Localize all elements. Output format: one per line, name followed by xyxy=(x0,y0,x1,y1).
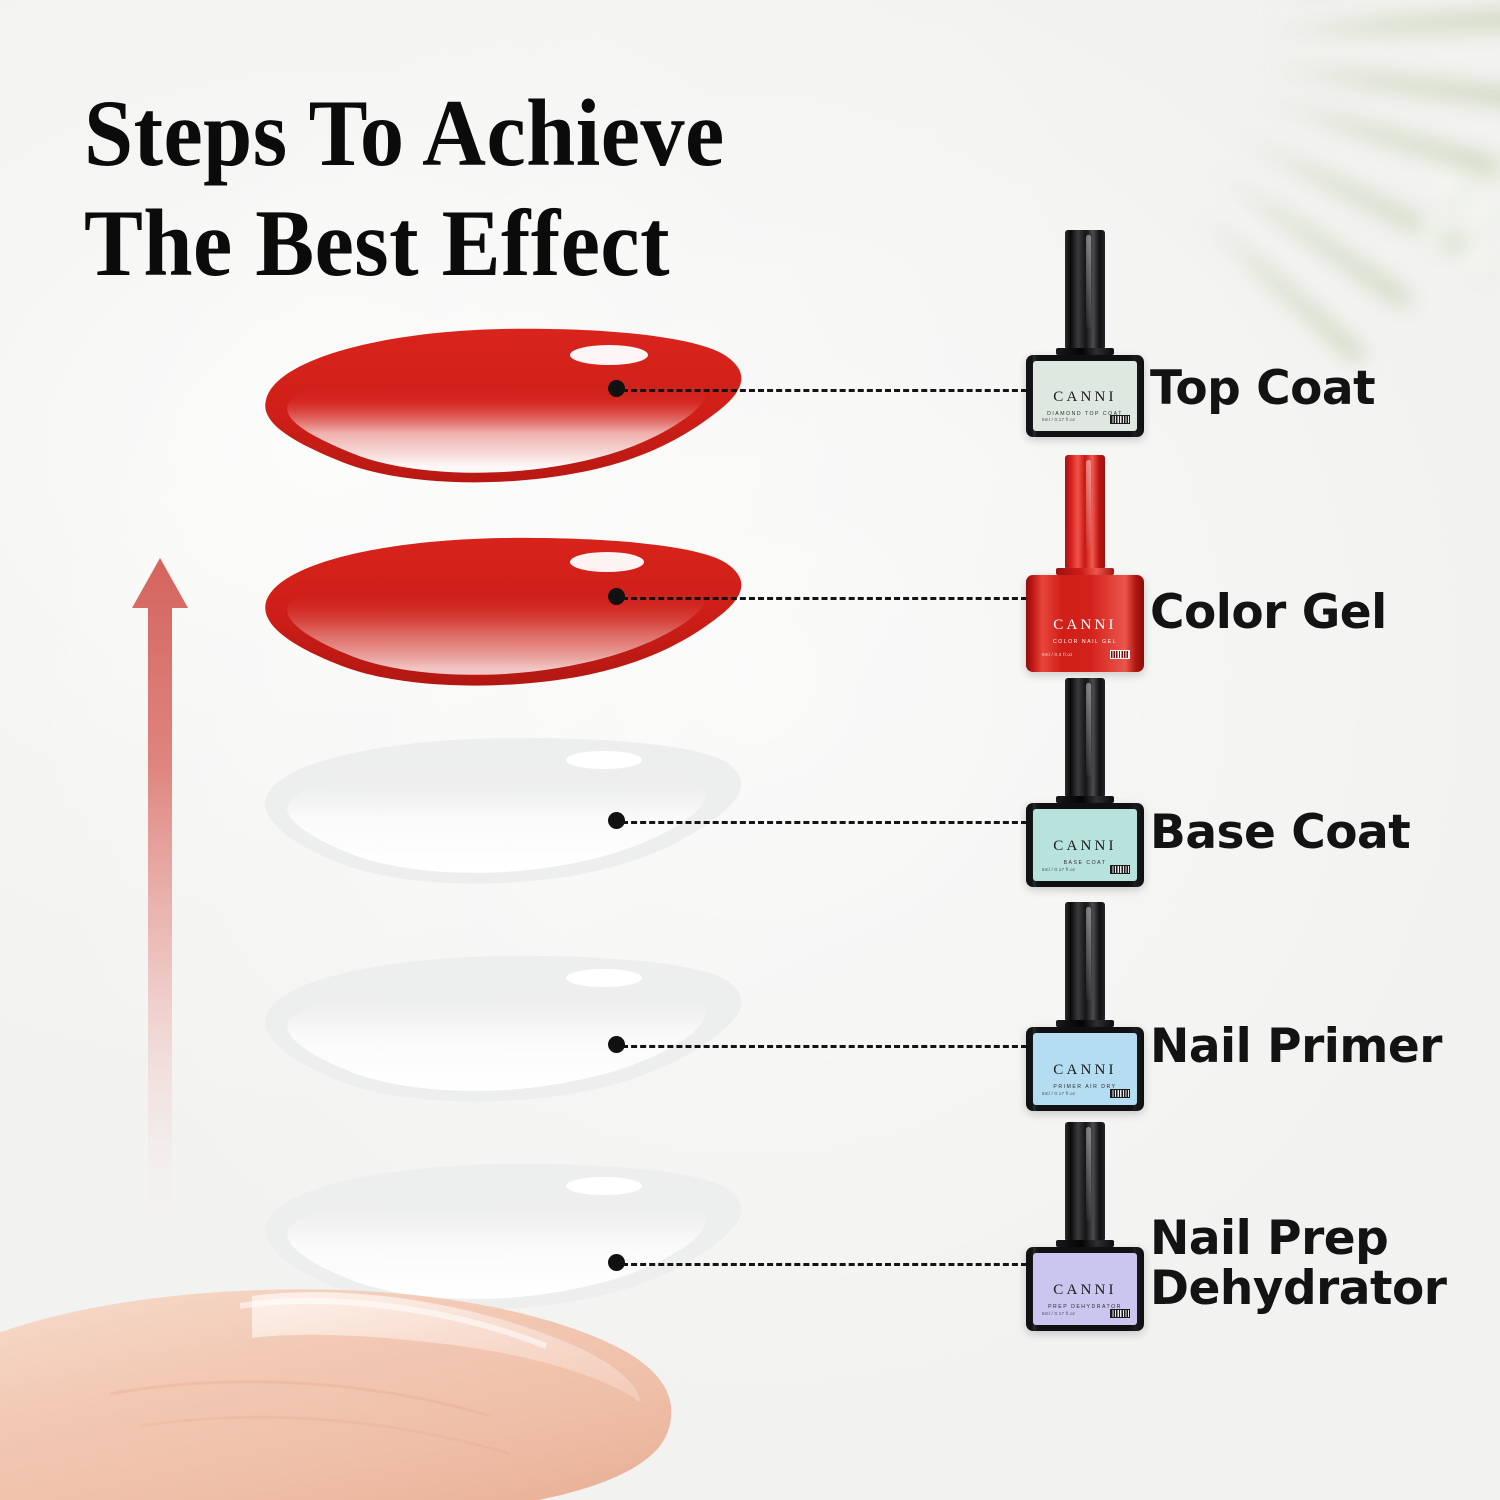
leader-line-nail-primer xyxy=(622,1045,1027,1048)
bottle-cap-icon xyxy=(1065,678,1105,796)
bottle-cap-icon xyxy=(1065,902,1105,1020)
infographic-canvas: Steps To Achieve The Best Effect xyxy=(0,0,1500,1500)
bottle-label-footer: 5ml / 0.17 fl.oz xyxy=(1042,415,1130,424)
bottle-label-footer: 5ml / 0.17 fl.oz xyxy=(1042,1089,1130,1098)
step-label-top-coat: Top Coat xyxy=(1150,364,1375,414)
barcode-icon xyxy=(1110,415,1130,424)
bottle-label-footer: 5ml / 0.17 fl.oz xyxy=(1042,865,1130,874)
bottle-body: CANNI PRIMER AIR DRY 5ml / 0.17 fl.oz xyxy=(1026,1027,1144,1111)
bottle-body: CANNI DIAMOND TOP COAT 5ml / 0.17 fl.oz xyxy=(1026,355,1144,437)
bottle-cap-icon xyxy=(1065,455,1105,568)
bottle-cap-icon xyxy=(1065,230,1105,348)
barcode-icon xyxy=(1110,650,1130,659)
bottle-label: CANNI DIAMOND TOP COAT 5ml / 0.17 fl.oz xyxy=(1033,361,1137,431)
step-label-color-gel: Color Gel xyxy=(1150,588,1387,638)
bottle-label-footer: 9ml / 0.3 fl.oz xyxy=(1042,650,1130,659)
bottle-cap-collar xyxy=(1056,568,1114,575)
bottle-color-gel[interactable]: CANNI COLOR NAIL GEL 9ml / 0.3 fl.oz xyxy=(1024,455,1146,672)
leader-line-color-gel xyxy=(622,597,1027,600)
page-title: Steps To Achieve The Best Effect xyxy=(84,78,902,298)
bottle-label: CANNI BASE COAT 5ml / 0.17 fl.oz xyxy=(1033,809,1137,881)
bottle-cap-collar xyxy=(1056,348,1114,355)
bottle-brand: CANNI xyxy=(1053,1282,1117,1299)
step-label-nail-prep-dehydrator: Nail Prep Dehydrator xyxy=(1150,1214,1446,1314)
barcode-icon xyxy=(1110,865,1130,874)
bottle-cap-collar xyxy=(1056,796,1114,803)
bottle-label-footer: 5ml / 0.17 fl.oz xyxy=(1042,1309,1130,1318)
bottle-brand: CANNI xyxy=(1053,617,1117,634)
bottle-body: CANNI PREP DEHYDRATOR 5ml / 0.17 fl.oz xyxy=(1026,1247,1144,1331)
barcode-icon xyxy=(1110,1309,1130,1318)
bottle-body: CANNI BASE COAT 5ml / 0.17 fl.oz xyxy=(1026,803,1144,887)
bottle-cap-collar xyxy=(1056,1020,1114,1027)
bottle-base-coat[interactable]: CANNI BASE COAT 5ml / 0.17 fl.oz xyxy=(1024,678,1146,887)
bottle-brand: CANNI xyxy=(1053,1062,1117,1079)
bottle-label: CANNI COLOR NAIL GEL 9ml / 0.3 fl.oz xyxy=(1033,581,1137,666)
bottle-cap-icon xyxy=(1065,1122,1105,1240)
bottle-brand: CANNI xyxy=(1053,838,1117,855)
bottle-volume: 5ml / 0.17 fl.oz xyxy=(1042,1311,1075,1316)
leader-line-nail-prep-dehydrator xyxy=(622,1263,1027,1266)
leader-line-top-coat xyxy=(622,389,1027,392)
bottle-label: CANNI PREP DEHYDRATOR 5ml / 0.17 fl.oz xyxy=(1033,1253,1137,1325)
bottle-label: CANNI PRIMER AIR DRY 5ml / 0.17 fl.oz xyxy=(1033,1033,1137,1105)
bottle-volume: 9ml / 0.3 fl.oz xyxy=(1042,652,1073,657)
bottle-volume: 5ml / 0.17 fl.oz xyxy=(1042,417,1075,422)
bottle-top-coat[interactable]: CANNI DIAMOND TOP COAT 5ml / 0.17 fl.oz xyxy=(1024,230,1146,437)
bottle-nail-primer[interactable]: CANNI PRIMER AIR DRY 5ml / 0.17 fl.oz xyxy=(1024,902,1146,1111)
step-label-base-coat: Base Coat xyxy=(1150,808,1410,858)
leader-line-base-coat xyxy=(622,821,1027,824)
bottle-cap-collar xyxy=(1056,1240,1114,1247)
step-label-nail-primer: Nail Primer xyxy=(1150,1022,1442,1072)
bottle-volume: 5ml / 0.17 fl.oz xyxy=(1042,867,1075,872)
bottle-volume: 5ml / 0.17 fl.oz xyxy=(1042,1091,1075,1096)
bottle-nail-prep-dehydrator[interactable]: CANNI PREP DEHYDRATOR 5ml / 0.17 fl.oz xyxy=(1024,1122,1146,1331)
bottle-brand: CANNI xyxy=(1053,389,1117,406)
barcode-icon xyxy=(1110,1089,1130,1098)
bottle-body: CANNI COLOR NAIL GEL 9ml / 0.3 fl.oz xyxy=(1026,575,1144,672)
bottle-product-name: COLOR NAIL GEL xyxy=(1053,639,1117,645)
